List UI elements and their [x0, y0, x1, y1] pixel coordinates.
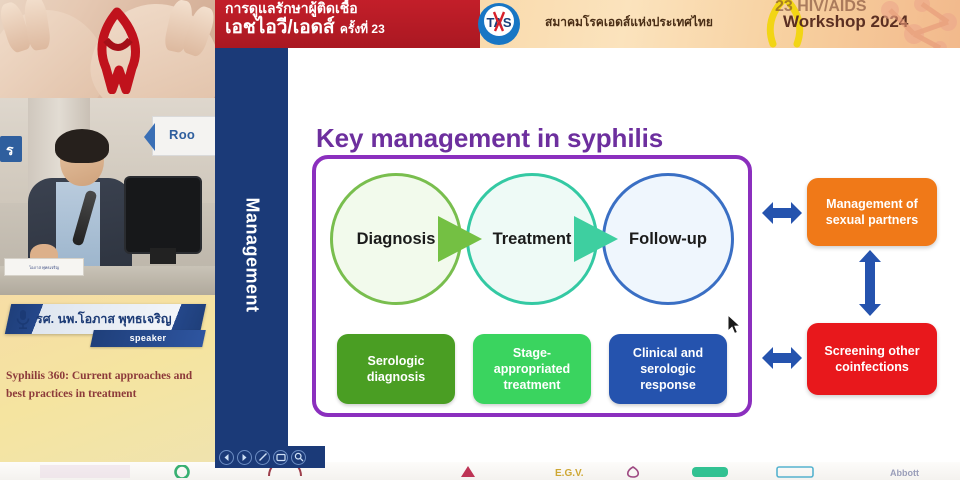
room-sign-text: Roo — [169, 127, 195, 142]
desk-nameplate: โอภาส พุทธเจริญ — [4, 258, 84, 276]
left-panel: Roo ร โอภาส พุทธเจริญ — [0, 0, 215, 480]
info-sign: ร — [0, 136, 22, 162]
aids-ribbon-photo — [0, 0, 215, 98]
speaker-video-feed[interactable]: Roo ร โอภาส พุทธเจริญ — [0, 98, 215, 295]
sponsor-logo — [775, 465, 815, 478]
sponsor-logo — [40, 465, 130, 478]
svg-text:E.G.V.: E.G.V. — [555, 468, 584, 478]
sign-arrow-icon — [144, 123, 155, 151]
header-thai-line2-main: เอชไอวี/เอดส์ — [225, 17, 335, 38]
slide-rail-label: Management — [241, 197, 262, 312]
room-direction-sign: Roo — [152, 116, 215, 156]
session-title: Syphilis 360: Current approaches and bes… — [6, 368, 211, 404]
double-arrow-bottom-icon — [760, 343, 804, 373]
speaker-name-banner: รศ. นพ.โอภาส พุทธเจริญ speaker — [0, 300, 215, 352]
sponsor-logo — [165, 465, 199, 478]
molecule-graphic — [870, 0, 960, 48]
flow-arrow-2-icon — [574, 216, 618, 262]
monitor-stand — [150, 248, 176, 264]
box-screening-coinfections[interactable]: Screening other coinfections — [807, 323, 937, 395]
flow-subbox-clinical-response[interactable]: Clinical and serologic response — [609, 334, 727, 404]
sponsor-logo — [455, 465, 481, 478]
stage-monitor — [126, 178, 200, 252]
slide-side-rail: Management — [215, 48, 288, 462]
flow-circle-followup[interactable]: Follow-up — [602, 173, 734, 305]
speaker-role-badge: speaker — [90, 330, 206, 347]
svg-text:Abbott: Abbott — [890, 468, 919, 478]
sponsor-logo — [690, 465, 730, 478]
syphilis-flow-diagram: Diagnosis Treatment Follow-up Serologic … — [312, 155, 752, 417]
header-thai-title-block: การดูแลรักษาผู้ติดเชื้อ เอชไอวี/เอดส์ คร… — [215, 0, 480, 48]
mouse-cursor-icon — [727, 314, 743, 336]
sponsor-logo-strip: E.G.V. Abbott — [0, 462, 960, 480]
header-thai-edition: ครั้งที่ 23 — [340, 22, 385, 36]
mic-icon — [14, 309, 32, 329]
slide-title: Key management in syphilis — [316, 123, 663, 154]
speaker-name: รศ. นพ.โอภาส พุทธเจริญ — [36, 309, 198, 329]
red-ribbon-icon — [88, 6, 146, 94]
event-header-banner: การดูแลรักษาผู้ติดเชื้อ เอชไอวี/เอดส์ คร… — [215, 0, 960, 48]
flow-arrow-1-icon — [438, 216, 482, 262]
header-thai-line2: เอชไอวี/เอดส์ ครั้งที่ 23 — [225, 12, 385, 42]
pen-icon[interactable] — [255, 450, 270, 465]
double-arrow-top-icon — [760, 198, 804, 228]
slide-player-toolbar[interactable] — [215, 446, 325, 468]
speaker-hair — [55, 129, 109, 163]
prev-icon[interactable] — [219, 450, 234, 465]
sponsor-logo: Abbott — [890, 465, 950, 478]
desk-nameplate-text: โอภาส พุทธเจริญ — [5, 259, 83, 277]
play-icon[interactable] — [237, 450, 252, 465]
presentation-slide[interactable]: Management Key management in syphilis Di… — [215, 48, 960, 462]
double-arrow-vertical-icon — [855, 248, 885, 318]
flow-subbox-stage-treatment[interactable]: Stage-appropriated treatment — [473, 334, 591, 404]
box-management-sexual-partners[interactable]: Management of sexual partners — [807, 178, 937, 246]
screen-icon[interactable] — [273, 450, 288, 465]
screen: Roo ร โอภาส พุทธเจริญ — [0, 0, 960, 480]
speaker-role-label: speaker — [92, 330, 204, 347]
tas-logo-icon: TAS — [477, 2, 521, 46]
flow-subbox-serologic-diagnosis[interactable]: Serologic diagnosis — [337, 334, 455, 404]
org-thai-name: สมาคมโรคเอดส์แห่งประเทศไทย — [545, 13, 713, 32]
sponsor-logo: E.G.V. — [555, 465, 609, 478]
zoom-icon[interactable] — [291, 450, 306, 465]
sponsor-logo — [620, 465, 646, 478]
